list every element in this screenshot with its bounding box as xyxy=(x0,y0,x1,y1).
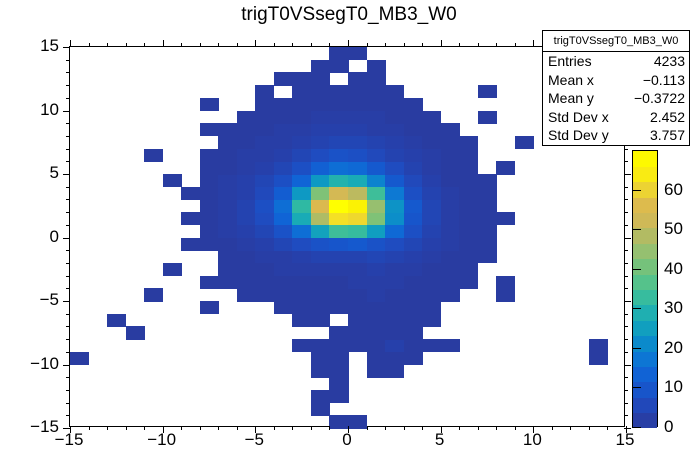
x-axis-tick-top xyxy=(533,40,534,47)
histogram-bin xyxy=(237,199,256,212)
histogram-bin xyxy=(385,326,404,339)
histogram-bin xyxy=(255,199,274,212)
histogram-bin xyxy=(385,85,404,98)
histogram-bin xyxy=(255,161,274,174)
histogram-bin xyxy=(496,161,515,174)
palette-tick xyxy=(632,427,641,428)
histogram-bin xyxy=(237,123,256,136)
x-axis-tick-top xyxy=(478,43,479,47)
histogram-bin xyxy=(144,288,163,301)
x-axis-tick xyxy=(589,426,590,430)
x-axis-tick-top xyxy=(255,40,256,47)
histogram-bin xyxy=(441,238,460,251)
histogram-bin xyxy=(329,301,348,314)
y-axis-tick xyxy=(63,47,70,48)
x-axis-tick-top xyxy=(422,43,423,47)
histogram-bin xyxy=(329,187,348,200)
palette-band xyxy=(633,197,657,213)
palette-label: 40 xyxy=(664,259,683,279)
y-axis-tick xyxy=(66,415,70,416)
histogram-bin xyxy=(385,225,404,238)
y-axis-tick xyxy=(66,390,70,391)
histogram-bin xyxy=(274,136,293,149)
y-axis-tick xyxy=(66,136,70,137)
histogram-bin xyxy=(404,187,423,200)
y-axis-tick-right xyxy=(624,365,631,366)
histogram-bin xyxy=(329,111,348,124)
histogram-bin xyxy=(367,339,386,352)
palette-label: 0 xyxy=(664,417,673,437)
histogram-bin xyxy=(385,212,404,225)
x-axis-tick-top xyxy=(367,43,368,47)
histogram-bin xyxy=(348,238,367,251)
histogram-bin xyxy=(441,339,460,352)
histogram-bin xyxy=(441,225,460,238)
histogram-bin xyxy=(144,149,163,162)
histogram-bin xyxy=(274,98,293,111)
histogram-bin xyxy=(367,136,386,149)
palette-band xyxy=(633,290,657,306)
histogram-bin xyxy=(255,136,274,149)
y-axis-tick-right xyxy=(624,187,628,188)
x-axis-tick-top xyxy=(292,43,293,47)
x-axis-tick-top xyxy=(348,40,349,47)
histogram-bin xyxy=(385,149,404,162)
stats-row: Mean x−0.113 xyxy=(543,71,689,90)
stats-title: trigT0VSsegT0_MB3_W0 xyxy=(543,31,689,52)
histogram-bin xyxy=(311,276,330,289)
y-axis-tick xyxy=(66,149,70,150)
histogram-bin xyxy=(348,212,367,225)
y-axis-tick xyxy=(66,326,70,327)
histogram-bin xyxy=(348,187,367,200)
histogram-bin xyxy=(237,276,256,289)
y-axis-tick xyxy=(63,365,70,366)
histogram-bin xyxy=(274,72,293,85)
histogram-bin xyxy=(200,212,219,225)
palette-band xyxy=(633,166,657,182)
palette-tick xyxy=(632,229,641,230)
histogram-bin xyxy=(422,314,441,327)
histogram-bin xyxy=(367,314,386,327)
x-axis-label: 0 xyxy=(342,430,351,450)
histogram-bin xyxy=(404,123,423,136)
histogram-bin xyxy=(441,149,460,162)
y-axis-label: −10 xyxy=(30,354,59,374)
histogram-bin xyxy=(367,199,386,212)
histogram-bin xyxy=(348,111,367,124)
histogram-bin xyxy=(311,212,330,225)
histogram-bin xyxy=(292,339,311,352)
histogram-bin xyxy=(404,339,423,352)
histogram-bin xyxy=(292,250,311,263)
histogram-cells xyxy=(70,47,624,426)
histogram-bin xyxy=(441,136,460,149)
histogram-bin xyxy=(404,174,423,187)
histogram-bin xyxy=(311,60,330,73)
histogram-bin xyxy=(292,288,311,301)
histogram-bin xyxy=(274,199,293,212)
histogram-bin xyxy=(292,199,311,212)
histogram-bin xyxy=(218,199,237,212)
x-axis-tick-top xyxy=(200,43,201,47)
histogram-bin xyxy=(311,149,330,162)
histogram-bin xyxy=(292,238,311,251)
x-axis-tick xyxy=(478,426,479,430)
stats-row: Entries4233 xyxy=(543,52,689,71)
histogram-bin xyxy=(459,276,478,289)
histogram-bin xyxy=(292,161,311,174)
histogram-bin xyxy=(218,225,237,238)
histogram-bin xyxy=(218,123,237,136)
histogram-bin xyxy=(181,187,200,200)
x-axis-tick-top xyxy=(237,43,238,47)
palette-band xyxy=(633,274,657,290)
histogram-bin xyxy=(367,111,386,124)
histogram-bin xyxy=(311,187,330,200)
histogram-bin xyxy=(385,199,404,212)
histogram-bin xyxy=(459,212,478,225)
y-axis-tick xyxy=(63,428,70,429)
histogram-bin xyxy=(478,187,497,200)
histogram-bin xyxy=(163,263,182,276)
histogram-bin xyxy=(367,72,386,85)
histogram-bin xyxy=(292,136,311,149)
x-axis-label: −10 xyxy=(147,430,176,450)
histogram-bin xyxy=(292,98,311,111)
histogram-bin xyxy=(348,47,367,60)
histogram-bin xyxy=(311,123,330,136)
histogram-bin xyxy=(404,212,423,225)
palette-band xyxy=(633,259,657,275)
histogram-bin xyxy=(367,365,386,378)
x-axis-tick xyxy=(237,426,238,430)
palette-tick xyxy=(632,190,641,191)
y-axis-tick-right xyxy=(624,314,628,315)
y-axis-tick xyxy=(66,161,70,162)
x-axis-tick-top xyxy=(515,43,516,47)
y-axis-tick xyxy=(63,301,70,302)
y-axis-tick-right xyxy=(624,403,628,404)
stats-box[interactable]: trigT0VSsegT0_MB3_W0 Entries4233Mean x−0… xyxy=(542,30,690,146)
histogram-bin xyxy=(348,263,367,276)
x-axis-tick xyxy=(89,426,90,430)
histogram-bin xyxy=(515,136,534,149)
x-axis-label: 10 xyxy=(523,430,542,450)
histogram-bin xyxy=(329,415,348,428)
histogram-bin xyxy=(404,149,423,162)
y-axis-tick xyxy=(66,60,70,61)
stats-row-key: Mean x xyxy=(548,71,594,90)
histogram-bin xyxy=(459,225,478,238)
histogram-bin xyxy=(255,263,274,276)
y-axis-tick xyxy=(66,85,70,86)
histogram-bin xyxy=(218,250,237,263)
histogram-bin xyxy=(329,276,348,289)
histogram-bin xyxy=(200,123,219,136)
histogram-bin xyxy=(200,276,219,289)
histogram-bin xyxy=(348,161,367,174)
histogram-bin xyxy=(459,161,478,174)
histogram-bin xyxy=(367,238,386,251)
histogram-bin xyxy=(367,288,386,301)
histogram-bin xyxy=(478,225,497,238)
y-axis-tick-right xyxy=(624,339,628,340)
histogram-bin xyxy=(367,187,386,200)
histogram-bin xyxy=(367,123,386,136)
y-axis-tick-right xyxy=(624,174,631,175)
x-axis-tick xyxy=(218,426,219,430)
palette-tick xyxy=(632,348,641,349)
histogram-bin xyxy=(274,238,293,251)
x-axis-tick-top xyxy=(144,43,145,47)
histogram-bin xyxy=(404,326,423,339)
histogram-bin xyxy=(348,276,367,289)
histogram-bin xyxy=(329,85,348,98)
histogram-bin xyxy=(311,250,330,263)
histogram-bin xyxy=(237,161,256,174)
histogram-bin xyxy=(329,199,348,212)
stats-rows: Entries4233Mean x−0.113Mean y−0.3722Std … xyxy=(543,52,689,145)
histogram-bin xyxy=(255,225,274,238)
x-axis-tick-top xyxy=(89,43,90,47)
histogram-bin xyxy=(163,174,182,187)
histogram-bin xyxy=(274,288,293,301)
palette-label: 10 xyxy=(664,377,683,397)
color-palette-bar xyxy=(632,150,658,427)
x-axis-tick-top xyxy=(459,43,460,47)
histogram-bin xyxy=(385,187,404,200)
histogram-bin xyxy=(422,187,441,200)
x-axis-tick xyxy=(107,426,108,430)
histogram-bin xyxy=(404,288,423,301)
histogram-bin xyxy=(218,187,237,200)
histogram-bin xyxy=(237,187,256,200)
stats-row: Std Dev x2.452 xyxy=(543,108,689,127)
histogram-bin xyxy=(255,123,274,136)
histogram-bin xyxy=(348,85,367,98)
histogram-bin xyxy=(459,174,478,187)
histogram-bin xyxy=(348,326,367,339)
histogram-bin xyxy=(311,161,330,174)
histogram-bin xyxy=(218,263,237,276)
histogram-bin xyxy=(404,161,423,174)
histogram-bin xyxy=(478,199,497,212)
histogram-bin xyxy=(255,98,274,111)
histogram-bin xyxy=(348,301,367,314)
histogram-bin xyxy=(404,301,423,314)
histogram-bin xyxy=(237,225,256,238)
histogram-bin xyxy=(422,225,441,238)
histogram-bin xyxy=(589,339,608,352)
histogram-bin xyxy=(200,161,219,174)
histogram-bin xyxy=(200,199,219,212)
histogram-bin xyxy=(367,352,386,365)
histogram-bin xyxy=(218,276,237,289)
y-axis-label: 15 xyxy=(40,36,59,56)
histogram-bin xyxy=(274,212,293,225)
histogram-bin xyxy=(385,301,404,314)
stats-row-value: −0.113 xyxy=(643,71,685,90)
histogram-bin xyxy=(459,136,478,149)
palette-band xyxy=(633,305,657,321)
histogram-bin xyxy=(218,238,237,251)
histogram-bin xyxy=(311,403,330,416)
histogram-bin xyxy=(311,339,330,352)
x-axis-tick xyxy=(607,426,608,430)
histogram-bin xyxy=(255,85,274,98)
y-axis-tick xyxy=(66,98,70,99)
histogram-bin xyxy=(181,212,200,225)
stats-row: Std Dev y3.757 xyxy=(543,126,689,145)
palette-tick xyxy=(632,308,641,309)
histogram-bin xyxy=(311,263,330,276)
histogram-bin xyxy=(348,339,367,352)
x-axis-tick-top xyxy=(329,43,330,47)
histogram-bin xyxy=(311,136,330,149)
y-axis-label: 10 xyxy=(40,100,59,120)
histogram-bin xyxy=(329,250,348,263)
x-axis-tick xyxy=(144,426,145,430)
histogram-bin xyxy=(404,136,423,149)
histogram-bin xyxy=(255,250,274,263)
x-axis-label: 5 xyxy=(435,430,444,450)
histogram-bin xyxy=(478,238,497,251)
histogram-bin xyxy=(292,174,311,187)
histogram-bin xyxy=(459,187,478,200)
histogram-bin xyxy=(459,238,478,251)
y-axis-tick-right xyxy=(624,149,628,150)
x-axis-tick-top xyxy=(404,43,405,47)
histogram-bin xyxy=(200,187,219,200)
y-axis-tick xyxy=(66,377,70,378)
histogram-bin xyxy=(329,377,348,390)
histogram-bin xyxy=(107,314,126,327)
histogram-bin xyxy=(329,288,348,301)
palette-tick xyxy=(632,387,641,388)
histogram-bin xyxy=(274,301,293,314)
histogram-bin xyxy=(441,276,460,289)
histogram-bin xyxy=(200,301,219,314)
histogram-bin xyxy=(367,98,386,111)
histogram-bin xyxy=(237,174,256,187)
histogram-bin xyxy=(422,174,441,187)
histogram-bin xyxy=(348,250,367,263)
histogram-bin xyxy=(385,288,404,301)
palette-band xyxy=(633,336,657,352)
histogram-bin xyxy=(311,199,330,212)
x-axis-tick xyxy=(459,426,460,430)
palette-label: 30 xyxy=(664,298,683,318)
palette-label: 50 xyxy=(664,219,683,239)
x-axis-tick-top xyxy=(70,40,71,47)
histogram-bin xyxy=(292,85,311,98)
x-axis-tick xyxy=(329,426,330,430)
histogram-bin xyxy=(367,326,386,339)
palette-tick xyxy=(632,269,641,270)
stats-row-value: 3.757 xyxy=(650,126,685,145)
histogram-bin xyxy=(200,174,219,187)
histogram-bin xyxy=(589,352,608,365)
histogram-bin xyxy=(292,263,311,276)
histogram-bin xyxy=(274,123,293,136)
palette-band xyxy=(633,151,657,167)
histogram-bin xyxy=(404,111,423,124)
histogram-bin xyxy=(367,301,386,314)
y-axis-label: 0 xyxy=(50,227,59,247)
histogram-bin xyxy=(329,174,348,187)
stats-row-value: 2.452 xyxy=(650,108,685,127)
histogram-bin xyxy=(126,326,145,339)
y-axis-tick-right xyxy=(624,390,628,391)
palette-band xyxy=(633,382,657,398)
histogram-bin xyxy=(441,123,460,136)
histogram-bin xyxy=(422,111,441,124)
histogram-bin xyxy=(385,111,404,124)
palette-label: 20 xyxy=(664,338,683,358)
histogram-bin xyxy=(478,250,497,263)
palette-band xyxy=(633,228,657,244)
histogram-bin xyxy=(329,161,348,174)
histogram-bin xyxy=(404,225,423,238)
histogram-bin xyxy=(459,263,478,276)
y-axis-tick-right xyxy=(624,415,628,416)
y-axis-tick xyxy=(63,111,70,112)
histogram-bin xyxy=(422,238,441,251)
histogram-bin xyxy=(237,111,256,124)
histogram-bin xyxy=(404,98,423,111)
histogram-bin xyxy=(292,123,311,136)
histogram-bin xyxy=(478,111,497,124)
histogram-bin xyxy=(459,250,478,263)
histogram-bin xyxy=(329,238,348,251)
y-axis-tick xyxy=(66,276,70,277)
histogram-bin xyxy=(311,225,330,238)
histogram-bin xyxy=(422,263,441,276)
y-axis-tick xyxy=(66,199,70,200)
histogram-bin xyxy=(404,276,423,289)
histogram-bin xyxy=(348,314,367,327)
x-axis-tick-top xyxy=(385,43,386,47)
y-axis-tick xyxy=(66,212,70,213)
histogram-bin xyxy=(367,174,386,187)
histogram-bin xyxy=(404,238,423,251)
palette-band xyxy=(633,243,657,259)
histogram-bin xyxy=(348,225,367,238)
histogram-bin xyxy=(329,365,348,378)
histogram-bin xyxy=(292,314,311,327)
histogram-bin xyxy=(367,276,386,289)
stats-row-key: Std Dev y xyxy=(548,126,609,145)
histogram-bin xyxy=(311,288,330,301)
histogram-bin xyxy=(422,301,441,314)
histogram-bin xyxy=(274,161,293,174)
x-axis-tick-top xyxy=(126,43,127,47)
histogram-bin xyxy=(441,250,460,263)
histogram-bin xyxy=(496,276,515,289)
stats-row-key: Mean y xyxy=(548,89,594,108)
x-axis-tick xyxy=(385,426,386,430)
histogram-bin xyxy=(422,276,441,289)
histogram-bin xyxy=(385,365,404,378)
x-axis-tick xyxy=(292,426,293,430)
histogram-bin xyxy=(255,187,274,200)
histogram-bin xyxy=(422,212,441,225)
histogram-bin xyxy=(348,149,367,162)
palette-label: 60 xyxy=(664,180,683,200)
histogram-bin xyxy=(255,149,274,162)
histogram-bin xyxy=(329,149,348,162)
